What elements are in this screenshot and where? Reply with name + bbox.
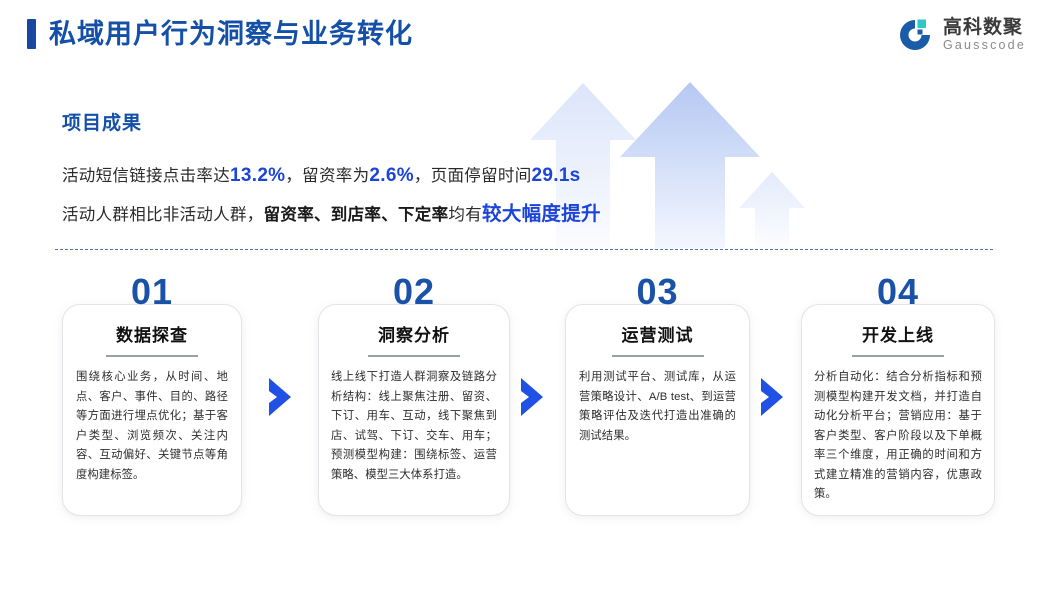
step-card-body-03[interactable]: 运营测试 利用测试平台、测试库，从运营策略设计、A/B test、到运营策略评估…: [565, 304, 750, 516]
project-results-block: 项目成果 活动短信链接点击率达13.2%，留资率为2.6%，页面停留时间29.1…: [62, 108, 702, 234]
step-rule-01: [106, 355, 198, 357]
metric-click-rate: 13.2%: [230, 165, 285, 186]
chevron-right-icon-1: [265, 375, 299, 419]
chevron-right-icon-2: [517, 375, 551, 419]
slide-header: 私域用户行为洞察与业务转化 高科数聚 Gausscode: [0, 0, 1048, 78]
results-line1-seg2: ，留资率为: [285, 167, 369, 185]
step-title-04: 开发上线: [802, 321, 994, 346]
chevron-right-icon-3: [757, 375, 791, 419]
step-card-body-01[interactable]: 数据探查 围绕核心业务，从时间、地点、客户、事件、目的、路径等方面进行埋点优化；…: [62, 304, 242, 516]
results-heading: 项目成果: [62, 108, 702, 135]
metric-lead-rate: 2.6%: [369, 165, 414, 186]
brand-name-en: Gausscode: [943, 38, 1026, 53]
gausscode-g-logo-icon: [896, 16, 934, 54]
metric-dwell-time: 29.1s: [532, 165, 581, 186]
brand-name-cn: 高科数聚: [943, 17, 1026, 38]
results-line2-emphasis: 留资率、到店率、下定率: [264, 206, 449, 224]
step-rule-03: [612, 355, 704, 357]
step-description-01: 围绕核心业务，从时间、地点、客户、事件、目的、路径等方面进行埋点优化；基于客户类…: [63, 368, 241, 485]
up-arrow-right-icon: [739, 172, 805, 248]
results-line-1: 活动短信链接点击率达13.2%，留资率为2.6%，页面停留时间29.1s: [62, 157, 702, 195]
brand-logo: 高科数聚 Gausscode: [896, 16, 1026, 54]
results-line1-seg3: ，页面停留时间: [414, 167, 532, 185]
step-number-01: 01: [62, 272, 242, 312]
step-card-body-04[interactable]: 开发上线 分析自动化：结合分析指标和预测模型构建开发文档，并打造自动化分析平台；…: [801, 304, 995, 516]
results-line2-seg2: 均有: [448, 206, 482, 224]
section-divider: [55, 249, 993, 250]
results-line2-seg1: 活动人群相比非活动人群，: [62, 206, 264, 224]
step-card-body-02[interactable]: 洞察分析 线上线下打造人群洞察及链路分析结构：线上聚焦注册、留资、下订、用车、互…: [318, 304, 510, 516]
step-description-02: 线上线下打造人群洞察及链路分析结构：线上聚焦注册、留资、下订、用车、互动，线下聚…: [319, 368, 509, 485]
brand-logo-text: 高科数聚 Gausscode: [943, 17, 1026, 53]
title-accent-bar: [27, 19, 36, 49]
step-title-02: 洞察分析: [319, 321, 509, 346]
results-line1-seg1: 活动短信链接点击率达: [62, 167, 230, 185]
results-line-2: 活动人群相比非活动人群，留资率、到店率、下定率均有较大幅度提升: [62, 195, 702, 234]
slide-canvas: 私域用户行为洞察与业务转化 高科数聚 Gausscode 项目成果 活动短信链接…: [0, 0, 1048, 591]
results-line2-highlight: 较大幅度提升: [482, 203, 601, 225]
step-rule-04: [852, 355, 944, 357]
step-title-01: 数据探查: [63, 321, 241, 346]
step-number-02: 02: [318, 272, 510, 312]
step-description-04: 分析自动化：结合分析指标和预测模型构建开发文档，并打造自动化分析平台；营销应用：…: [802, 368, 994, 505]
page-title-wrap: 私域用户行为洞察与业务转化: [27, 18, 413, 50]
step-number-03: 03: [565, 272, 750, 312]
step-number-04: 04: [801, 272, 995, 312]
step-title-03: 运营测试: [566, 321, 749, 346]
step-description-03: 利用测试平台、测试库，从运营策略设计、A/B test、到运营策略评估及迭代打造…: [566, 368, 749, 446]
page-title: 私域用户行为洞察与业务转化: [49, 18, 413, 50]
step-rule-02: [368, 355, 460, 357]
